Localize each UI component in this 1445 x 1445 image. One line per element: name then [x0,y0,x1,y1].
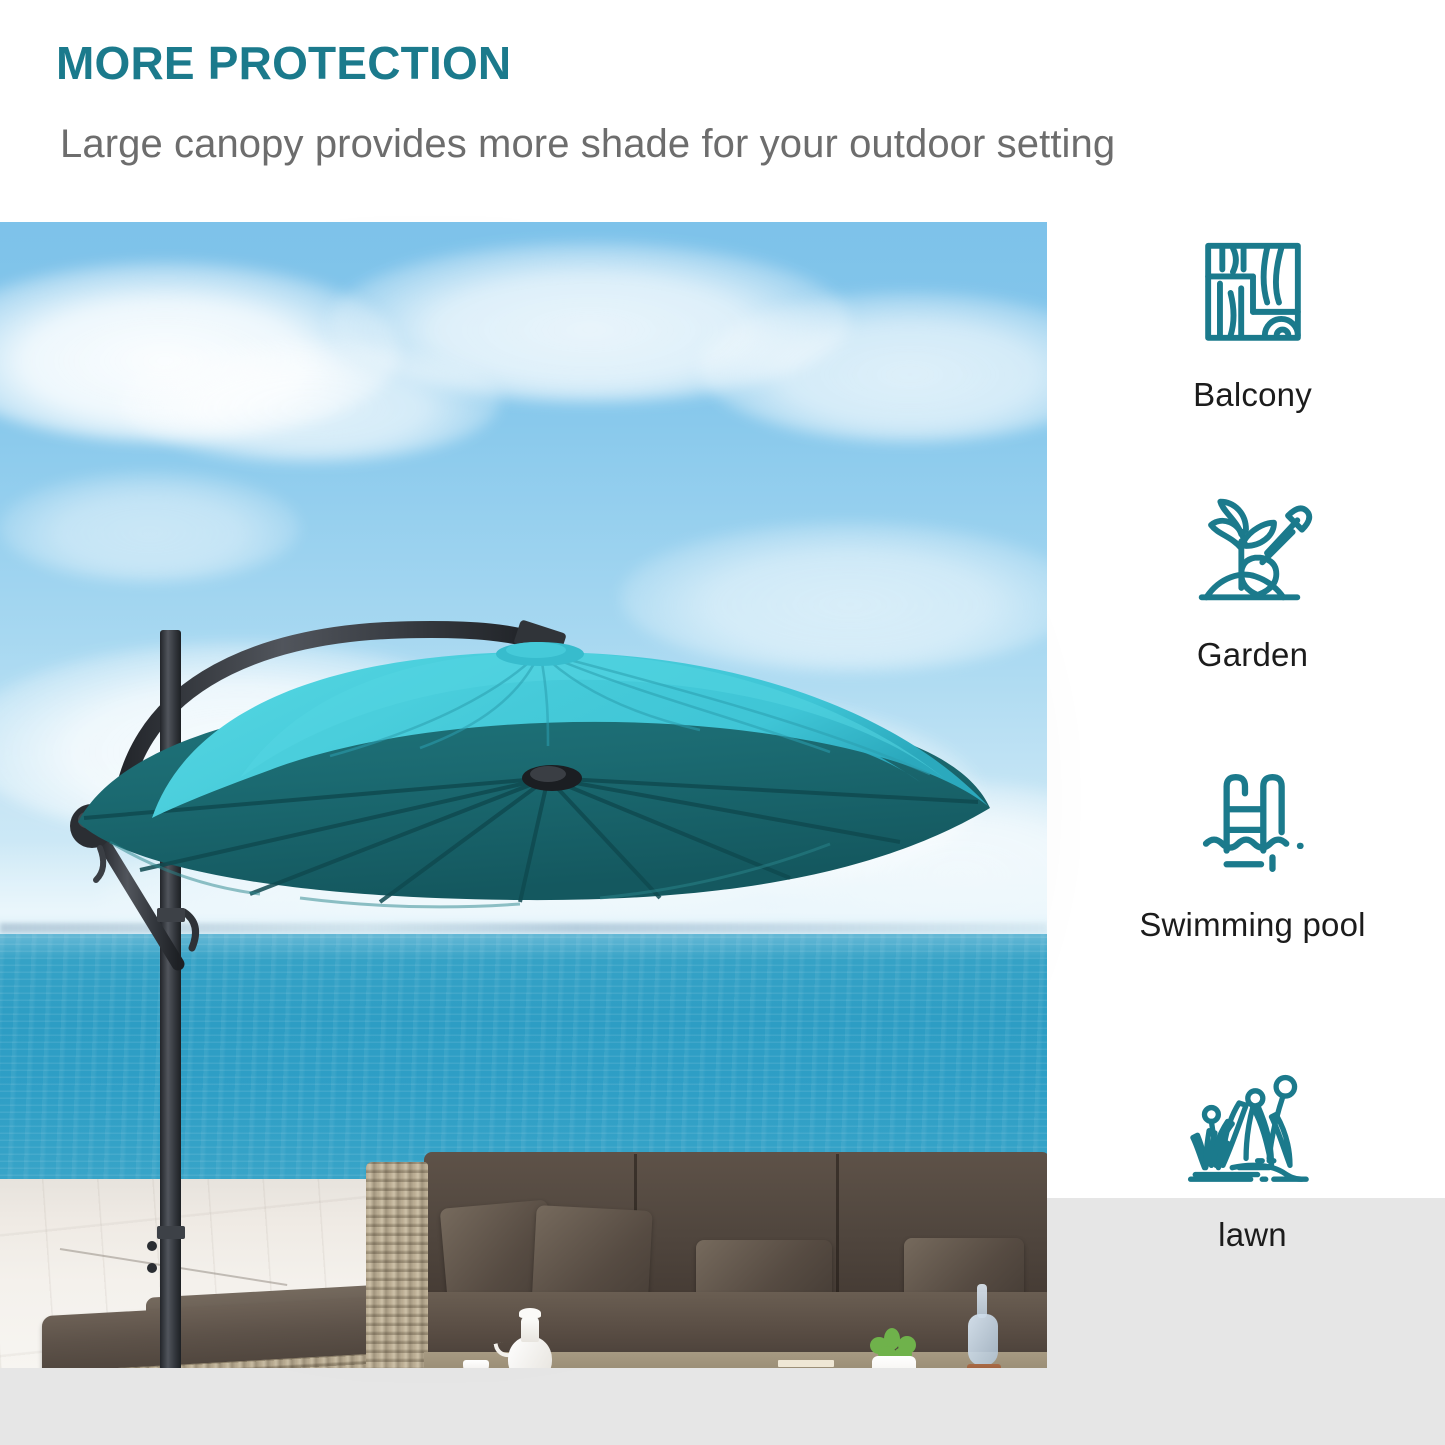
garden-icon [1190,494,1316,612]
pole-adjust-knob [147,1263,157,1273]
feature-label: lawn [1060,1216,1445,1254]
umbrella-crank-handle [96,848,103,880]
product-feature-banner: MORE PROTECTION Large canopy provides mo… [0,0,1445,1445]
cantilever-patio-umbrella [0,222,1047,1368]
lawn-icon [1186,1071,1320,1195]
feature-garden[interactable]: Garden [1060,488,1445,674]
pole-collar [157,1226,185,1239]
swimming-pool-icon-wrap [1060,758,1445,888]
feature-balcony[interactable]: Balcony [1060,228,1445,414]
balcony-icon [1194,234,1312,352]
canopy-center-hub-cap [530,766,566,782]
product-photo [0,222,1047,1368]
umbrella-pole [160,630,181,1368]
page-title: MORE PROTECTION [56,36,511,90]
feature-swimming-pool[interactable]: Swimming pool [1060,758,1445,944]
page-subtitle: Large canopy provides more shade for you… [60,122,1115,167]
feature-lawn[interactable]: lawn [1060,1068,1445,1254]
swimming-pool-icon [1190,767,1316,879]
umbrella-tilt-lever [184,912,196,948]
garden-icon-wrap [1060,488,1445,618]
canopy-top-cap-highlight [506,642,566,658]
pole-collar [157,908,185,922]
feature-label: Swimming pool [1060,906,1445,944]
umbrella-frame [0,222,1047,1368]
feature-label: Balcony [1060,376,1445,414]
lawn-icon-wrap [1060,1068,1445,1198]
feature-label: Garden [1060,636,1445,674]
pole-adjust-knob [147,1241,157,1251]
balcony-icon-wrap [1060,228,1445,358]
